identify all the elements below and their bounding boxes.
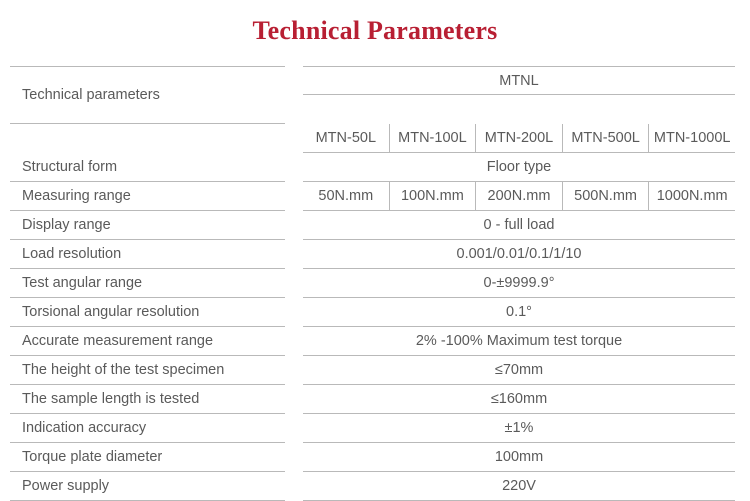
value-cell: 0 - full load (303, 211, 735, 239)
specifications-table: Technical parameters MTNL MTN-50L MTN-10… (0, 66, 750, 501)
model-cell-5: MTN-1000L (648, 124, 735, 152)
value-row: 220V (303, 472, 735, 501)
table-row: Accurate measurement range 2% -100% Maxi… (0, 327, 750, 356)
column-gap (285, 472, 303, 501)
value-cell: 1000N.mm (648, 182, 735, 210)
param-label: Power supply (10, 472, 285, 501)
param-label: Torque plate diameter (10, 443, 285, 472)
value-cell: 100mm (303, 443, 735, 471)
param-label: Test angular range (10, 269, 285, 298)
value-row: 100mm (303, 443, 735, 472)
table-row: Torque plate diameter 100mm (0, 443, 750, 472)
column-gap (285, 414, 303, 443)
model-cell-1: MTN-50L (303, 124, 389, 152)
value-cell: 0.1° (303, 298, 735, 326)
param-label: Indication accuracy (10, 414, 285, 443)
table-row: Load resolution 0.001/0.01/0.1/1/10 (0, 240, 750, 269)
value-cell: ≤160mm (303, 385, 735, 413)
value-cell: 220V (303, 472, 735, 500)
table-row: The sample length is tested ≤160mm (0, 385, 750, 414)
value-row: 50N.mm 100N.mm 200N.mm 500N.mm 1000N.mm (303, 182, 735, 211)
table-row: Structural form Floor type (0, 153, 750, 182)
value-cell: 0.001/0.01/0.1/1/10 (303, 240, 735, 268)
table-row: Display range 0 - full load (0, 211, 750, 240)
value-cell: 0-±9999.9° (303, 269, 735, 297)
model-cell-4: MTN-500L (562, 124, 649, 152)
column-gap (285, 182, 303, 211)
column-gap (285, 153, 303, 182)
value-cell: ±1% (303, 414, 735, 442)
value-row: Floor type (303, 153, 735, 182)
table-row: Torsional angular resolution 0.1° (0, 298, 750, 327)
model-cell-3: MTN-200L (475, 124, 562, 152)
table-header-series-row: Technical parameters MTNL (0, 66, 750, 124)
column-gap (285, 269, 303, 298)
column-gap (285, 240, 303, 269)
column-gap (285, 211, 303, 240)
param-column-header: Technical parameters (10, 66, 285, 124)
column-gap (285, 327, 303, 356)
value-cell: ≤70mm (303, 356, 735, 384)
column-gap (285, 385, 303, 414)
table-row: Test angular range 0-±9999.9° (0, 269, 750, 298)
column-gap (285, 124, 303, 153)
value-cell: 100N.mm (389, 182, 476, 210)
column-gap (285, 443, 303, 472)
value-cell: 200N.mm (475, 182, 562, 210)
value-row: 2% -100% Maximum test torque (303, 327, 735, 356)
value-row: 0.001/0.01/0.1/1/10 (303, 240, 735, 269)
series-name-row: MTNL (303, 66, 735, 95)
model-cell-2: MTN-100L (389, 124, 476, 152)
value-cell: 500N.mm (562, 182, 649, 210)
table-row: Power supply 220V (0, 472, 750, 501)
param-label: Torsional angular resolution (10, 298, 285, 327)
value-cell: 50N.mm (303, 182, 389, 210)
page-title: Technical Parameters (0, 16, 750, 46)
param-label: Display range (10, 211, 285, 240)
table-row: Indication accuracy ±1% (0, 414, 750, 443)
value-row: 0-±9999.9° (303, 269, 735, 298)
param-label: Structural form (10, 153, 285, 182)
table-row: The height of the test specimen ≤70mm (0, 356, 750, 385)
value-row: ≤70mm (303, 356, 735, 385)
series-name-cell: MTNL (303, 67, 735, 94)
table-row: Measuring range 50N.mm 100N.mm 200N.mm 5… (0, 182, 750, 211)
param-label: The height of the test specimen (10, 356, 285, 385)
value-cell: 2% -100% Maximum test torque (303, 327, 735, 355)
param-label: Accurate measurement range (10, 327, 285, 356)
value-cell: Floor type (303, 153, 735, 181)
param-label: The sample length is tested (10, 385, 285, 414)
param-label: Load resolution (10, 240, 285, 269)
param-column-spacer (0, 124, 285, 153)
value-row: ±1% (303, 414, 735, 443)
value-row: 0.1° (303, 298, 735, 327)
model-names-row: MTN-50L MTN-100L MTN-200L MTN-500L MTN-1… (303, 124, 735, 153)
param-label: Measuring range (10, 182, 285, 211)
value-row: 0 - full load (303, 211, 735, 240)
table-header-models-row: MTN-50L MTN-100L MTN-200L MTN-500L MTN-1… (0, 124, 750, 153)
column-gap (285, 66, 303, 124)
column-gap (285, 298, 303, 327)
value-row: ≤160mm (303, 385, 735, 414)
column-gap (285, 356, 303, 385)
